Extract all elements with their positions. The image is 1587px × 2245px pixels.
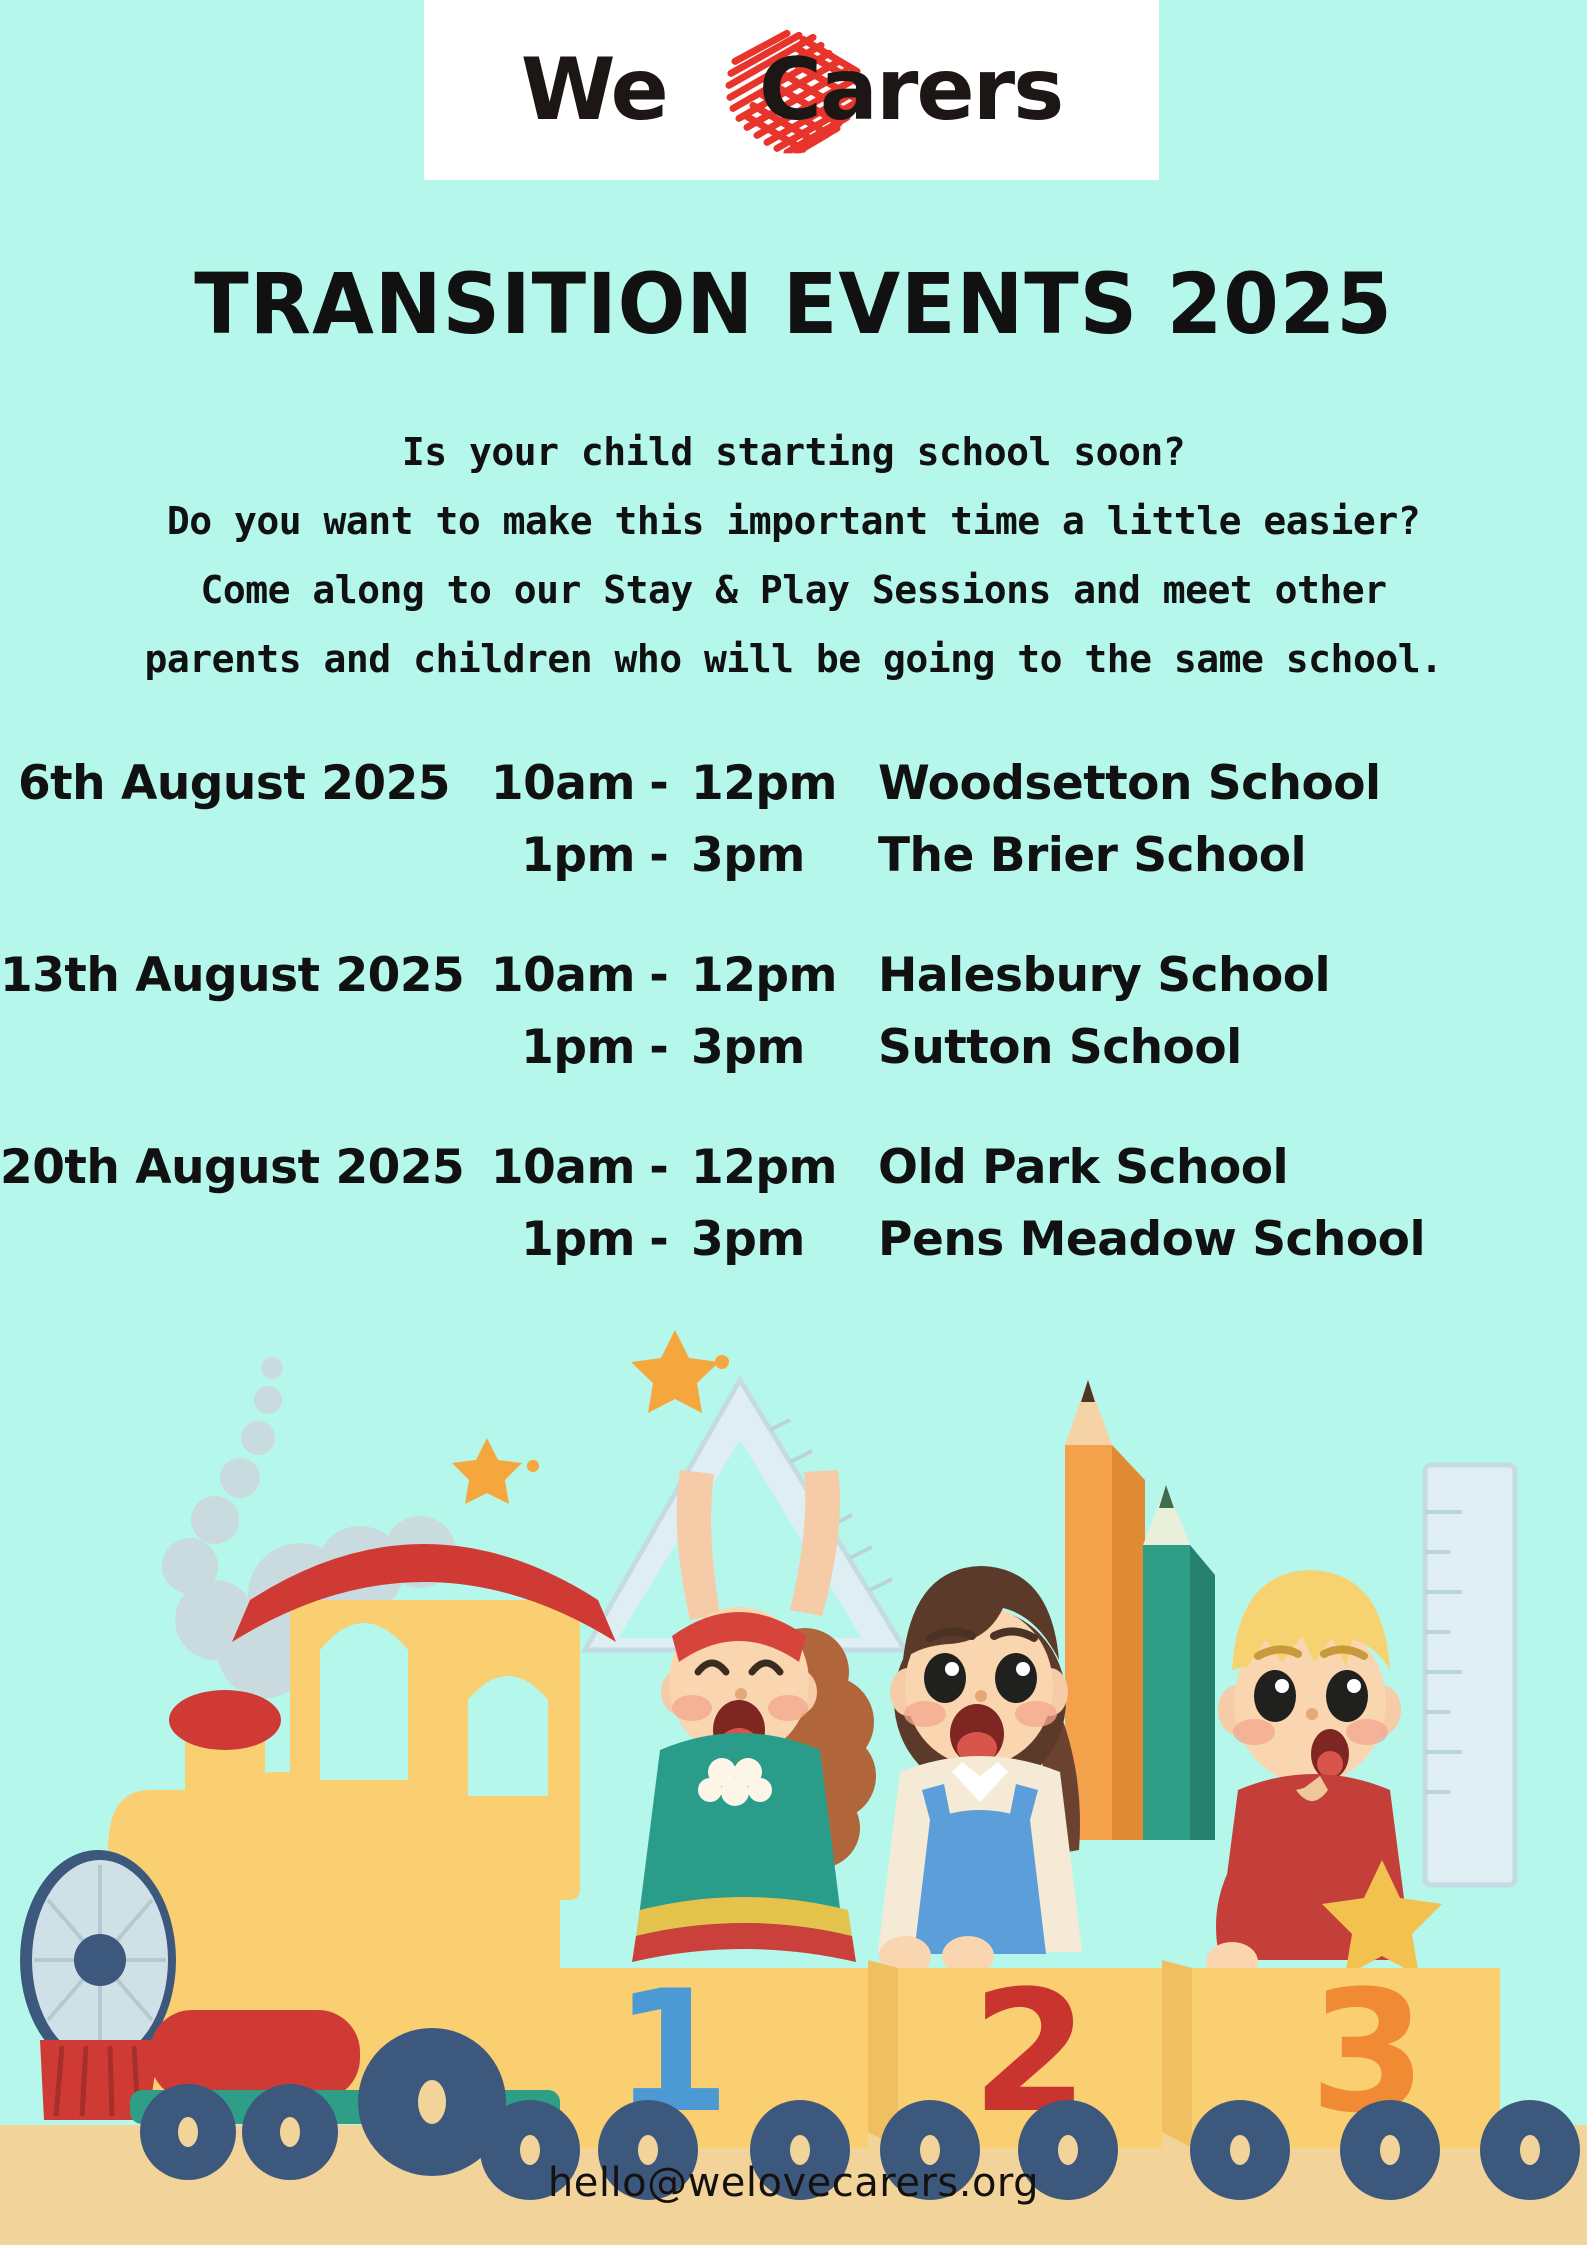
- event-school: Woodsetton School: [856, 748, 1381, 820]
- contact-email[interactable]: hello@welovecarers.org: [0, 2160, 1587, 2206]
- toy-train-illustration: 1 2 3: [0, 1320, 1587, 2245]
- event-start-time: 10am: [460, 940, 635, 1012]
- locomotive: [20, 1544, 616, 2124]
- intro-line-1: Is your child starting school soon?: [0, 418, 1587, 487]
- event-start-time: 10am: [460, 748, 635, 820]
- child-in-blue-pinafore: [878, 1566, 1082, 1976]
- event-end-time: 12pm: [683, 748, 856, 820]
- event-school: Pens Meadow School: [856, 1204, 1425, 1276]
- event-start-time: 1pm: [460, 1204, 635, 1276]
- event-school: Old Park School: [856, 1132, 1288, 1204]
- intro-paragraph: Is your child starting school soon? Do y…: [0, 418, 1587, 694]
- time-dash: -: [635, 1132, 683, 1204]
- event-start-time: 1pm: [460, 1012, 635, 1084]
- time-dash: -: [635, 748, 683, 820]
- event-row: 1pm - 3pm The Brier School: [0, 820, 1587, 892]
- time-dash: -: [635, 940, 683, 1012]
- brand-word-we: We: [521, 47, 667, 133]
- intro-line-2: Do you want to make this important time …: [0, 487, 1587, 556]
- brand-logo-inner: We: [492, 25, 1092, 155]
- event-school: Sutton School: [856, 1012, 1242, 1084]
- straight-ruler-icon: [1425, 1465, 1515, 1885]
- event-start-time: 10am: [460, 1132, 635, 1204]
- event-row: 1pm - 3pm Sutton School: [0, 1012, 1587, 1084]
- intro-line-4: parents and children who will be going t…: [0, 625, 1587, 694]
- page-title: TRANSITION EVENTS 2025: [40, 262, 1548, 346]
- event-group: 20th August 2025 10am - 12pm Old Park Sc…: [0, 1132, 1587, 1276]
- event-row: 13th August 2025 10am - 12pm Halesbury S…: [0, 940, 1587, 1012]
- event-end-time: 12pm: [683, 940, 856, 1012]
- orange-pencil-icon: [1065, 1380, 1145, 1840]
- child-in-red-shirt: [1206, 1570, 1442, 1982]
- time-dash: -: [635, 1012, 683, 1084]
- green-pencil-icon: [1143, 1485, 1215, 1840]
- brand-word-carers: Carers: [759, 47, 1063, 133]
- brand-logo: We: [424, 0, 1159, 180]
- events-schedule: 6th August 2025 10am - 12pm Woodsetton S…: [0, 748, 1587, 1324]
- event-date: 20th August 2025: [0, 1132, 460, 1204]
- event-end-time: 12pm: [683, 1132, 856, 1204]
- event-end-time: 3pm: [683, 1012, 856, 1084]
- event-date: 6th August 2025: [0, 748, 460, 820]
- event-end-time: 3pm: [683, 1204, 856, 1276]
- poster-canvas: We: [0, 0, 1587, 2245]
- event-group: 13th August 2025 10am - 12pm Halesbury S…: [0, 940, 1587, 1084]
- time-dash: -: [635, 820, 683, 892]
- event-row: 1pm - 3pm Pens Meadow School: [0, 1204, 1587, 1276]
- event-date: 13th August 2025: [0, 940, 460, 1012]
- event-row: 20th August 2025 10am - 12pm Old Park Sc…: [0, 1132, 1587, 1204]
- event-row: 6th August 2025 10am - 12pm Woodsetton S…: [0, 748, 1587, 820]
- event-group: 6th August 2025 10am - 12pm Woodsetton S…: [0, 748, 1587, 892]
- time-dash: -: [635, 1204, 683, 1276]
- event-school: Halesbury School: [856, 940, 1330, 1012]
- event-start-time: 1pm: [460, 820, 635, 892]
- event-end-time: 3pm: [683, 820, 856, 892]
- intro-line-3: Come along to our Stay & Play Sessions a…: [0, 556, 1587, 625]
- event-school: The Brier School: [856, 820, 1306, 892]
